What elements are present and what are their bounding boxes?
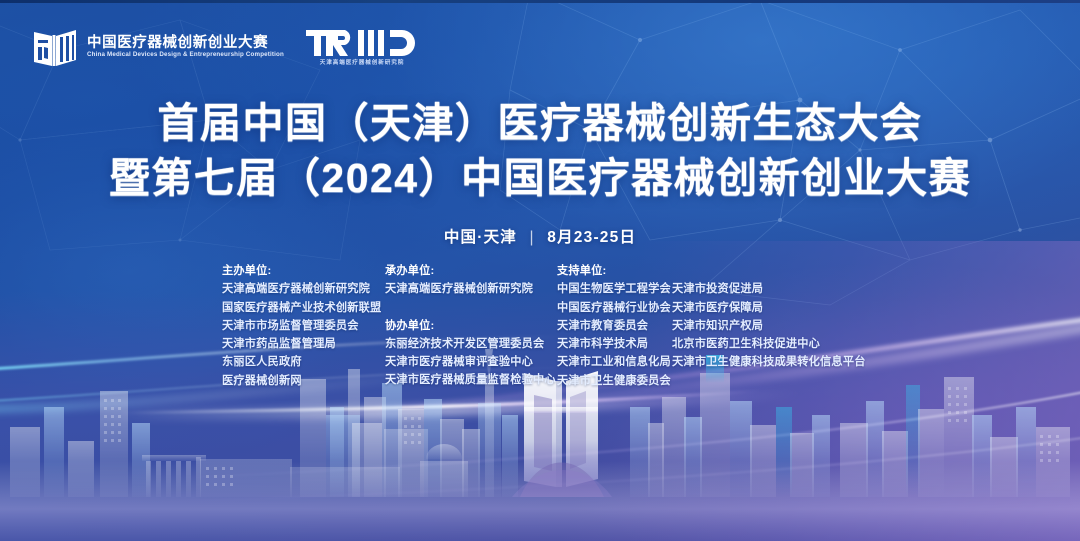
supporter-item: 中国生物医学工程学会 bbox=[557, 280, 672, 298]
column-spacer bbox=[385, 299, 557, 317]
co-organizer-item: 东丽经济技术开发区管理委员会 bbox=[385, 335, 557, 353]
top-edge-line bbox=[0, 0, 1080, 3]
event-date: 8月23-25日 bbox=[547, 229, 636, 246]
supporter-item: 天津市医疗保障局 bbox=[672, 299, 872, 317]
co-organizer-item: 天津市医疗器械质量监督检验中心 bbox=[385, 371, 557, 389]
open-book-door-logo-mark-icon bbox=[32, 26, 78, 68]
host-heading: 承办单位: bbox=[385, 262, 557, 280]
organizers-column: 主办单位: 天津高端医疗器械创新研究院 国家医疗器械产业技术创新联盟 天津市市场… bbox=[222, 262, 385, 390]
supporters-subcolumn-right-spacer bbox=[672, 262, 872, 280]
competition-logo: 中国医疗器械创新创业大赛 China Medical Devices Desig… bbox=[32, 26, 284, 68]
event-info-separator: | bbox=[530, 229, 535, 246]
competition-logo-title-en: China Medical Devices Design & Entrepren… bbox=[87, 52, 284, 59]
co-organizer-item: 天津市医疗器械审评查验中心 bbox=[385, 353, 557, 371]
organizer-item: 医疗器械创新网 bbox=[222, 372, 385, 390]
institute-logo: 天津高端医疗器械创新研究院 bbox=[306, 28, 418, 67]
host-column: 承办单位: 天津高端医疗器械创新研究院 协办单位: 东丽经济技术开发区管理委员会… bbox=[385, 262, 557, 390]
banner-title: 首届中国（天津）医疗器械创新生态大会 暨第七届（2024）中国医疗器械创新创业大… bbox=[0, 96, 1080, 205]
event-info-bar: 中国·天津 | 8月23-25日 bbox=[0, 225, 1080, 247]
organizer-columns: 主办单位: 天津高端医疗器械创新研究院 国家医疗器械产业技术创新联盟 天津市市场… bbox=[222, 262, 872, 390]
supporter-item: 天津市科学技术局 bbox=[557, 335, 672, 353]
supporter-item: 天津市工业和信息化局 bbox=[557, 353, 672, 371]
organizer-item: 东丽区人民政府 bbox=[222, 353, 385, 371]
supporter-item: 中国医疗器械行业协会 bbox=[557, 299, 672, 317]
organizer-item: 天津高端医疗器械创新研究院 bbox=[222, 280, 385, 298]
title-line-1: 首届中国（天津）医疗器械创新生态大会 bbox=[0, 96, 1080, 151]
organizer-item: 国家医疗器械产业技术创新联盟 bbox=[222, 299, 385, 317]
supporters-column: 支持单位: 中国生物医学工程学会 中国医疗器械行业协会 天津市教育委员会 天津市… bbox=[557, 262, 872, 390]
supporter-item: 天津市教育委员会 bbox=[557, 317, 672, 335]
supporter-item: 北京市医药卫生科技促进中心 bbox=[672, 335, 872, 353]
organizers-heading: 主办单位: bbox=[222, 262, 385, 280]
institute-logo-subtitle: 天津高端医疗器械创新研究院 bbox=[320, 61, 404, 67]
triid-wordmark-icon bbox=[306, 28, 418, 58]
organizer-item: 天津市市场监督管理委员会 bbox=[222, 317, 385, 335]
supporter-item: 天津市卫生健康科技成果转化信息平台 bbox=[672, 353, 872, 371]
co-organizers-heading: 协办单位: bbox=[385, 317, 557, 335]
organizer-item: 天津市药品监督管理局 bbox=[222, 335, 385, 353]
supporters-subcolumn-left: 支持单位: 中国生物医学工程学会 中国医疗器械行业协会 天津市教育委员会 天津市… bbox=[557, 262, 672, 390]
host-item: 天津高端医疗器械创新研究院 bbox=[385, 280, 557, 298]
supporter-item: 天津市投资促进局 bbox=[672, 280, 872, 298]
supporter-item: 天津市卫生健康委员会 bbox=[557, 372, 672, 390]
supporters-subcolumn-right: 天津市投资促进局 天津市医疗保障局 天津市知识产权局 北京市医药卫生科技促进中心… bbox=[672, 262, 872, 390]
competition-logo-title-cn: 中国医疗器械创新创业大赛 bbox=[87, 36, 284, 51]
title-line-2: 暨第七届（2024）中国医疗器械创新创业大赛 bbox=[0, 151, 1080, 206]
event-location: 中国·天津 bbox=[444, 229, 517, 246]
banner-header: 中国医疗器械创新创业大赛 China Medical Devices Desig… bbox=[32, 26, 418, 68]
supporter-item: 天津市知识产权局 bbox=[672, 317, 872, 335]
supporters-heading: 支持单位: bbox=[557, 262, 672, 280]
conference-banner: 中国医疗器械创新创业大赛 China Medical Devices Desig… bbox=[0, 0, 1080, 541]
